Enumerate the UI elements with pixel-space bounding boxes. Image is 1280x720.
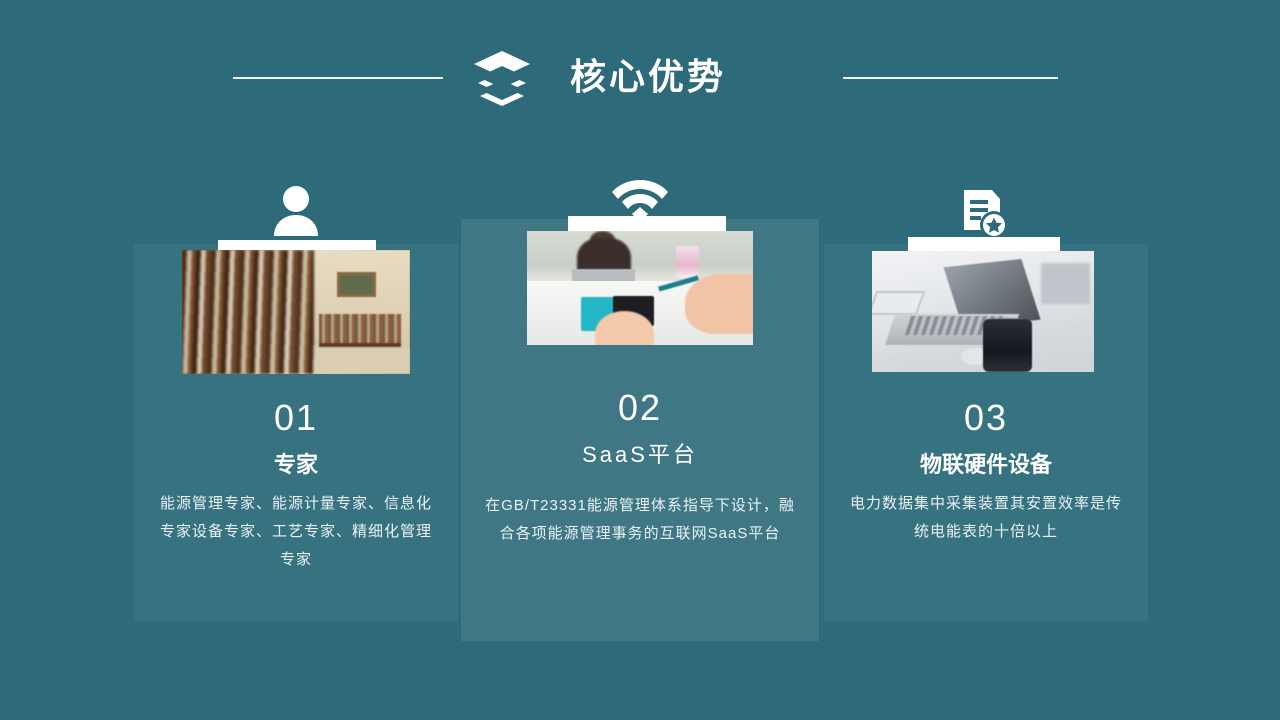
card-02-number: 02: [461, 388, 819, 428]
card-02-title: SaaS平台: [461, 440, 819, 470]
card-02-description: 在GB/T23331能源管理体系指导下设计，融合各项能源管理事务的互联网SaaS…: [481, 492, 799, 548]
document-star-icon: [960, 188, 1008, 240]
library-bookshelves-photo: [182, 250, 410, 374]
slide-header: 核心优势: [0, 0, 1280, 150]
card-01-number: 01: [134, 398, 458, 438]
laptop-desk-coffee-photo: [872, 251, 1094, 372]
person-icon: [268, 182, 324, 238]
card-03-description: 电力数据集中采集装置其安置效率是传统电能表的十倍以上: [844, 490, 1128, 546]
card-01-description: 能源管理专家、能源计量专家、信息化专家设备专家、工艺专家、精细化管理专家: [154, 490, 438, 574]
desk-meeting-notebook-photo: [527, 231, 753, 345]
card-03-number: 03: [824, 398, 1148, 438]
page-title: 核心优势: [570, 52, 790, 102]
header-rule-right: [843, 77, 1058, 79]
header-rule-left: [233, 77, 443, 79]
layers-stack-icon: [470, 45, 534, 109]
card-01-title: 专家: [134, 450, 458, 480]
card-03-title: 物联硬件设备: [824, 450, 1148, 480]
